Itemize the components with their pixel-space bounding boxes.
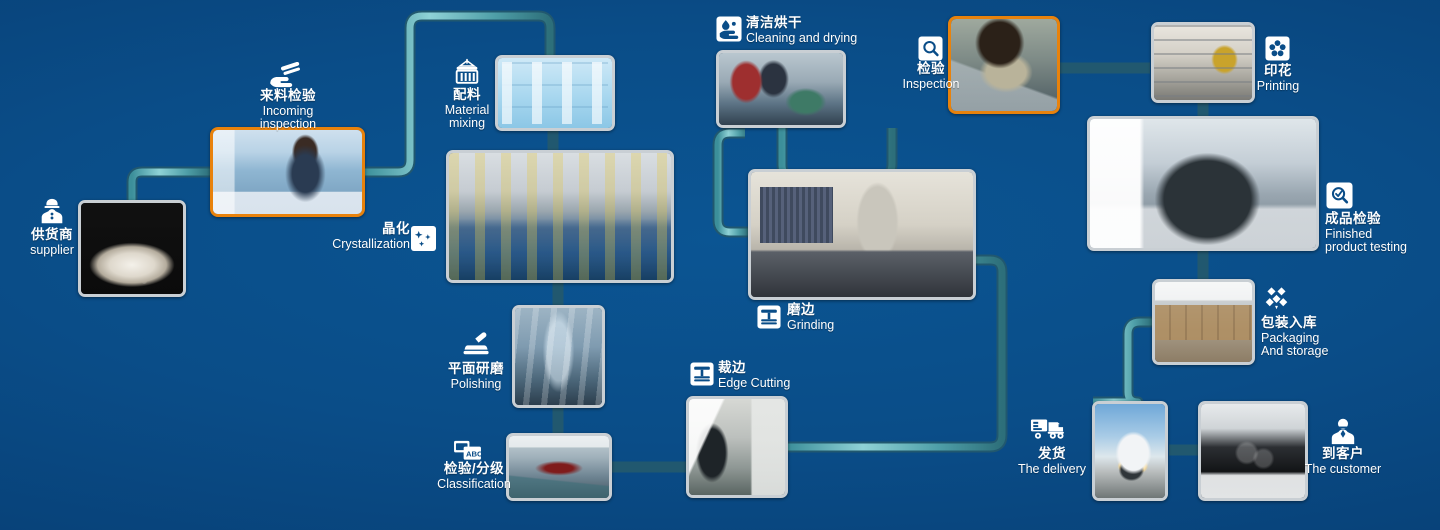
label-incoming-inspection: 来料检验 Incoming inspection bbox=[236, 89, 340, 132]
grinding-machine-icon bbox=[757, 305, 781, 329]
label-packaging-storage: 包装入库 Packaging And storage bbox=[1261, 316, 1381, 359]
label-printing: 印花 Printing bbox=[1243, 64, 1313, 93]
crystal-icon bbox=[411, 226, 436, 251]
photo-packaging-storage bbox=[1155, 282, 1252, 362]
label-edge-cutting-cn: 裁边 bbox=[718, 361, 828, 376]
label-grinding: 磨边 Grinding bbox=[787, 303, 883, 332]
label-material-mixing-cn: 配料 bbox=[424, 88, 510, 103]
photo-edge-cutting bbox=[689, 399, 785, 495]
label-polishing-en: Polishing bbox=[437, 378, 515, 392]
photo-card-material-mixing bbox=[495, 55, 615, 131]
label-packaging-storage-en-2: And storage bbox=[1261, 345, 1381, 359]
label-incoming-inspection-en-1: Incoming bbox=[236, 105, 340, 119]
label-classification-cn: 检验/分级 bbox=[428, 462, 520, 477]
label-crystallization-en: Crystallization bbox=[330, 238, 410, 252]
polishing-icon bbox=[462, 331, 492, 357]
photo-grinding bbox=[751, 172, 973, 297]
label-crystallization-cn: 晶化 bbox=[330, 222, 410, 237]
label-delivery: 发货 The delivery bbox=[1010, 447, 1094, 476]
photo-card-packaging-storage bbox=[1152, 279, 1255, 365]
photo-card-polishing bbox=[512, 305, 605, 408]
label-packaging-storage-cn: 包装入库 bbox=[1261, 316, 1381, 331]
label-printing-en: Printing bbox=[1243, 80, 1313, 94]
label-customer-en: The customer bbox=[1300, 463, 1386, 477]
label-printing-cn: 印花 bbox=[1243, 64, 1313, 79]
label-customer: 到客户 The customer bbox=[1300, 447, 1386, 476]
supplier-worker-icon bbox=[37, 196, 67, 226]
photo-card-grinding bbox=[748, 169, 976, 300]
label-cleaning-drying-en: Cleaning and drying bbox=[746, 32, 876, 46]
label-classification: 检验/分级 Classification bbox=[428, 462, 520, 491]
label-finished-product-testing-en-2: product testing bbox=[1325, 241, 1437, 255]
grading-abc-icon: ABC bbox=[453, 438, 482, 463]
label-delivery-en: The delivery bbox=[1010, 463, 1094, 477]
photo-card-edge-cutting bbox=[686, 396, 788, 498]
flower-print-icon bbox=[1265, 36, 1290, 61]
photo-material-mixing bbox=[498, 58, 612, 128]
photo-card-printing bbox=[1151, 22, 1255, 103]
customer-person-icon bbox=[1329, 417, 1357, 446]
label-material-mixing-en-1: Material bbox=[424, 104, 510, 118]
photo-supplier bbox=[81, 203, 183, 294]
photo-card-finished-product-testing bbox=[1087, 116, 1319, 251]
package-boxes-icon bbox=[1262, 286, 1291, 312]
label-cleaning-drying-cn: 清洁烘干 bbox=[746, 16, 876, 31]
label-incoming-inspection-cn: 来料检验 bbox=[236, 89, 340, 104]
label-grinding-cn: 磨边 bbox=[787, 303, 883, 318]
photo-incoming-inspection bbox=[213, 130, 362, 214]
photo-card-classification bbox=[506, 433, 612, 501]
label-material-mixing-en-2: mixing bbox=[424, 117, 510, 131]
label-supplier-cn: 供货商 bbox=[14, 228, 90, 243]
photo-printing bbox=[1154, 25, 1252, 100]
label-polishing-cn: 平面研磨 bbox=[437, 362, 515, 377]
label-finished-product-testing: 成品检验 Finished product testing bbox=[1325, 212, 1437, 255]
label-grinding-en: Grinding bbox=[787, 319, 883, 333]
magnifier-icon bbox=[918, 36, 943, 61]
magnifier-check-icon bbox=[1326, 182, 1353, 209]
svg-text:ABC: ABC bbox=[466, 450, 482, 459]
label-edge-cutting-en: Edge Cutting bbox=[718, 377, 828, 391]
cutting-machine-icon bbox=[690, 362, 714, 386]
label-finished-product-testing-cn: 成品检验 bbox=[1325, 212, 1437, 227]
label-cleaning-drying: 清洁烘干 Cleaning and drying bbox=[746, 16, 876, 45]
photo-classification bbox=[509, 436, 609, 498]
label-customer-cn: 到客户 bbox=[1300, 447, 1386, 462]
photo-crystallization bbox=[449, 153, 671, 280]
photo-customer bbox=[1201, 404, 1305, 498]
label-edge-cutting: 裁边 Edge Cutting bbox=[718, 361, 828, 390]
label-incoming-inspection-en-2: inspection bbox=[236, 118, 340, 132]
photo-polishing bbox=[515, 308, 602, 405]
label-delivery-cn: 发货 bbox=[1010, 447, 1094, 462]
label-inspection-cn: 检验 bbox=[884, 62, 978, 77]
label-supplier-en: supplier bbox=[14, 244, 90, 258]
water-drop-hand-icon bbox=[716, 16, 742, 42]
label-polishing: 平面研磨 Polishing bbox=[437, 362, 515, 391]
label-material-mixing: 配料 Material mixing bbox=[424, 88, 510, 131]
photo-finished-product-testing bbox=[1090, 119, 1316, 248]
photo-cleaning-drying bbox=[719, 53, 843, 125]
photo-card-crystallization bbox=[446, 150, 674, 283]
label-inspection-en: Inspection bbox=[884, 78, 978, 92]
label-packaging-storage-en-1: Packaging bbox=[1261, 332, 1381, 346]
label-supplier: 供货商 supplier bbox=[14, 228, 90, 257]
label-classification-en: Classification bbox=[428, 478, 520, 492]
photo-card-cleaning-drying bbox=[716, 50, 846, 128]
photo-card-delivery bbox=[1092, 401, 1168, 501]
batching-silo-icon bbox=[452, 57, 482, 89]
photo-delivery bbox=[1095, 404, 1165, 498]
truck-icon bbox=[1030, 416, 1070, 441]
label-inspection: 检验 Inspection bbox=[884, 62, 978, 91]
photo-card-incoming-inspection[interactable] bbox=[210, 127, 365, 217]
photo-card-supplier bbox=[78, 200, 186, 297]
photo-card-customer bbox=[1198, 401, 1308, 501]
label-crystallization: 晶化 Crystallization bbox=[330, 222, 410, 251]
label-finished-product-testing-en-1: Finished bbox=[1325, 228, 1437, 242]
